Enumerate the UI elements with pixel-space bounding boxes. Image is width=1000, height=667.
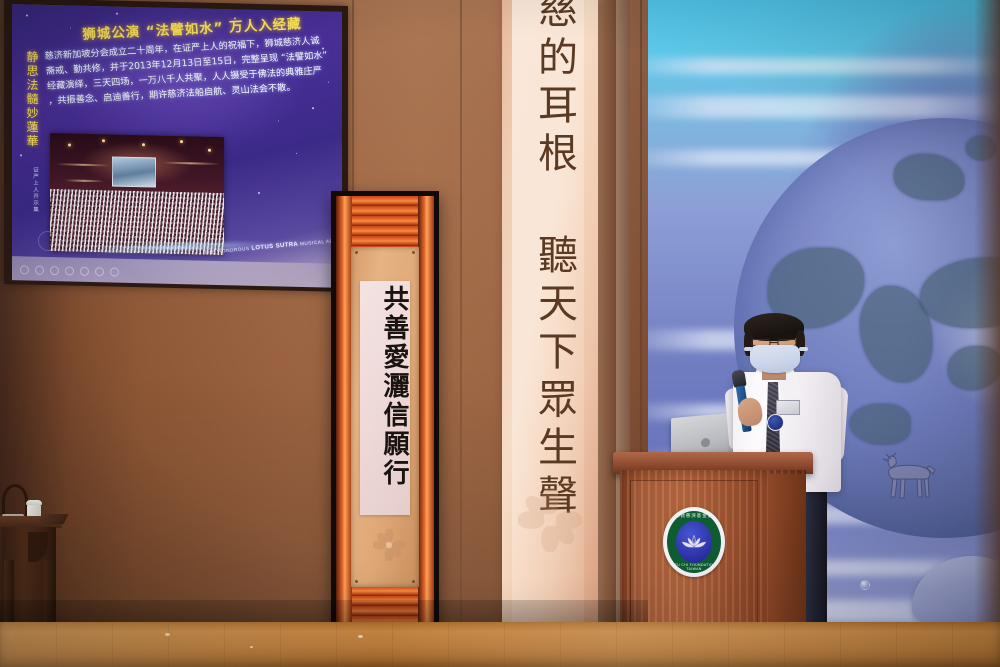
wall-panel-seam: [460, 0, 462, 667]
banner-paper: 共善愛灑信願行: [360, 281, 410, 515]
altar-backrest: [2, 484, 28, 518]
scroll-calligraphy-text: 慈的耳根 聽天下眾生聲: [516, 0, 580, 522]
lotus-watermark-icon: [518, 488, 582, 552]
zoom-icon[interactable]: [80, 267, 89, 276]
play-icon[interactable]: [20, 265, 29, 274]
pen-icon[interactable]: [50, 266, 59, 275]
banner-scroll-panel: 共善愛灑信願行: [351, 247, 419, 587]
mural-edge-shadow: [974, 0, 1000, 642]
slide-vertical-subtitle: 证严上人开示集: [28, 167, 38, 213]
pause-icon[interactable]: [35, 266, 44, 275]
projection-screen-frame: 静思法髓妙蓮華 证严上人开示集 狮城公演 “法譬如水” 万人入经藏 慈济新加坡分…: [4, 0, 348, 292]
emblem-chinese-text: 佛教慈濟基金會: [667, 513, 721, 519]
mask-ear-loop: [799, 347, 808, 351]
deer-painting: [877, 452, 939, 512]
mask-ear-loop: [744, 347, 753, 351]
banner-calligraphy-text: 共善愛灑信願行: [360, 285, 410, 488]
bamboo-framed-banner: 共善愛灑信願行: [331, 191, 439, 643]
stage-floor: [0, 622, 1000, 667]
bubble-painting: [860, 580, 870, 590]
slide-player-toolbar[interactable]: [20, 265, 119, 276]
presentation-slide: 静思法髓妙蓮華 证严上人开示集 狮城公演 “法譬如水” 万人入经藏 慈济新加坡分…: [12, 4, 342, 264]
speaker-hair: [744, 313, 804, 341]
laptop-logo-icon: [701, 438, 710, 448]
photo-stage-scene: 慈的耳根 聽天下眾生聲: [0, 0, 1000, 667]
tzu-chi-emblem: 佛教慈濟基金會 TZU CHI FOUNDATION TAIWAN: [663, 507, 725, 577]
altar-table-scroll-end: [38, 514, 69, 524]
speaker-name-badge: [776, 400, 800, 415]
minus-icon[interactable]: [95, 267, 104, 276]
face-mask: [750, 345, 800, 373]
lotus-watermark-icon: [373, 529, 405, 561]
lotus-boat-icon: [680, 532, 708, 552]
emblem-english-text: TZU CHI FOUNDATION TAIWAN: [667, 563, 721, 571]
arena-video-screen: [112, 156, 156, 187]
slide-vertical-title: 静思法髓妙蓮華: [24, 50, 39, 148]
hanging-calligraphy-scroll: 慈的耳根 聽天下眾生聲: [502, 0, 598, 636]
speaker-lapel-pin: [767, 414, 784, 431]
slide-photo-arena: [50, 133, 224, 255]
scroll-support-rail: [596, 0, 618, 646]
highlighter-icon[interactable]: [65, 266, 74, 275]
dash-icon[interactable]: [110, 267, 119, 276]
projection-screen: 静思法髓妙蓮華 证严上人开示集 狮城公演 “法譬如水” 万人入经藏 慈济新加坡分…: [12, 4, 342, 288]
